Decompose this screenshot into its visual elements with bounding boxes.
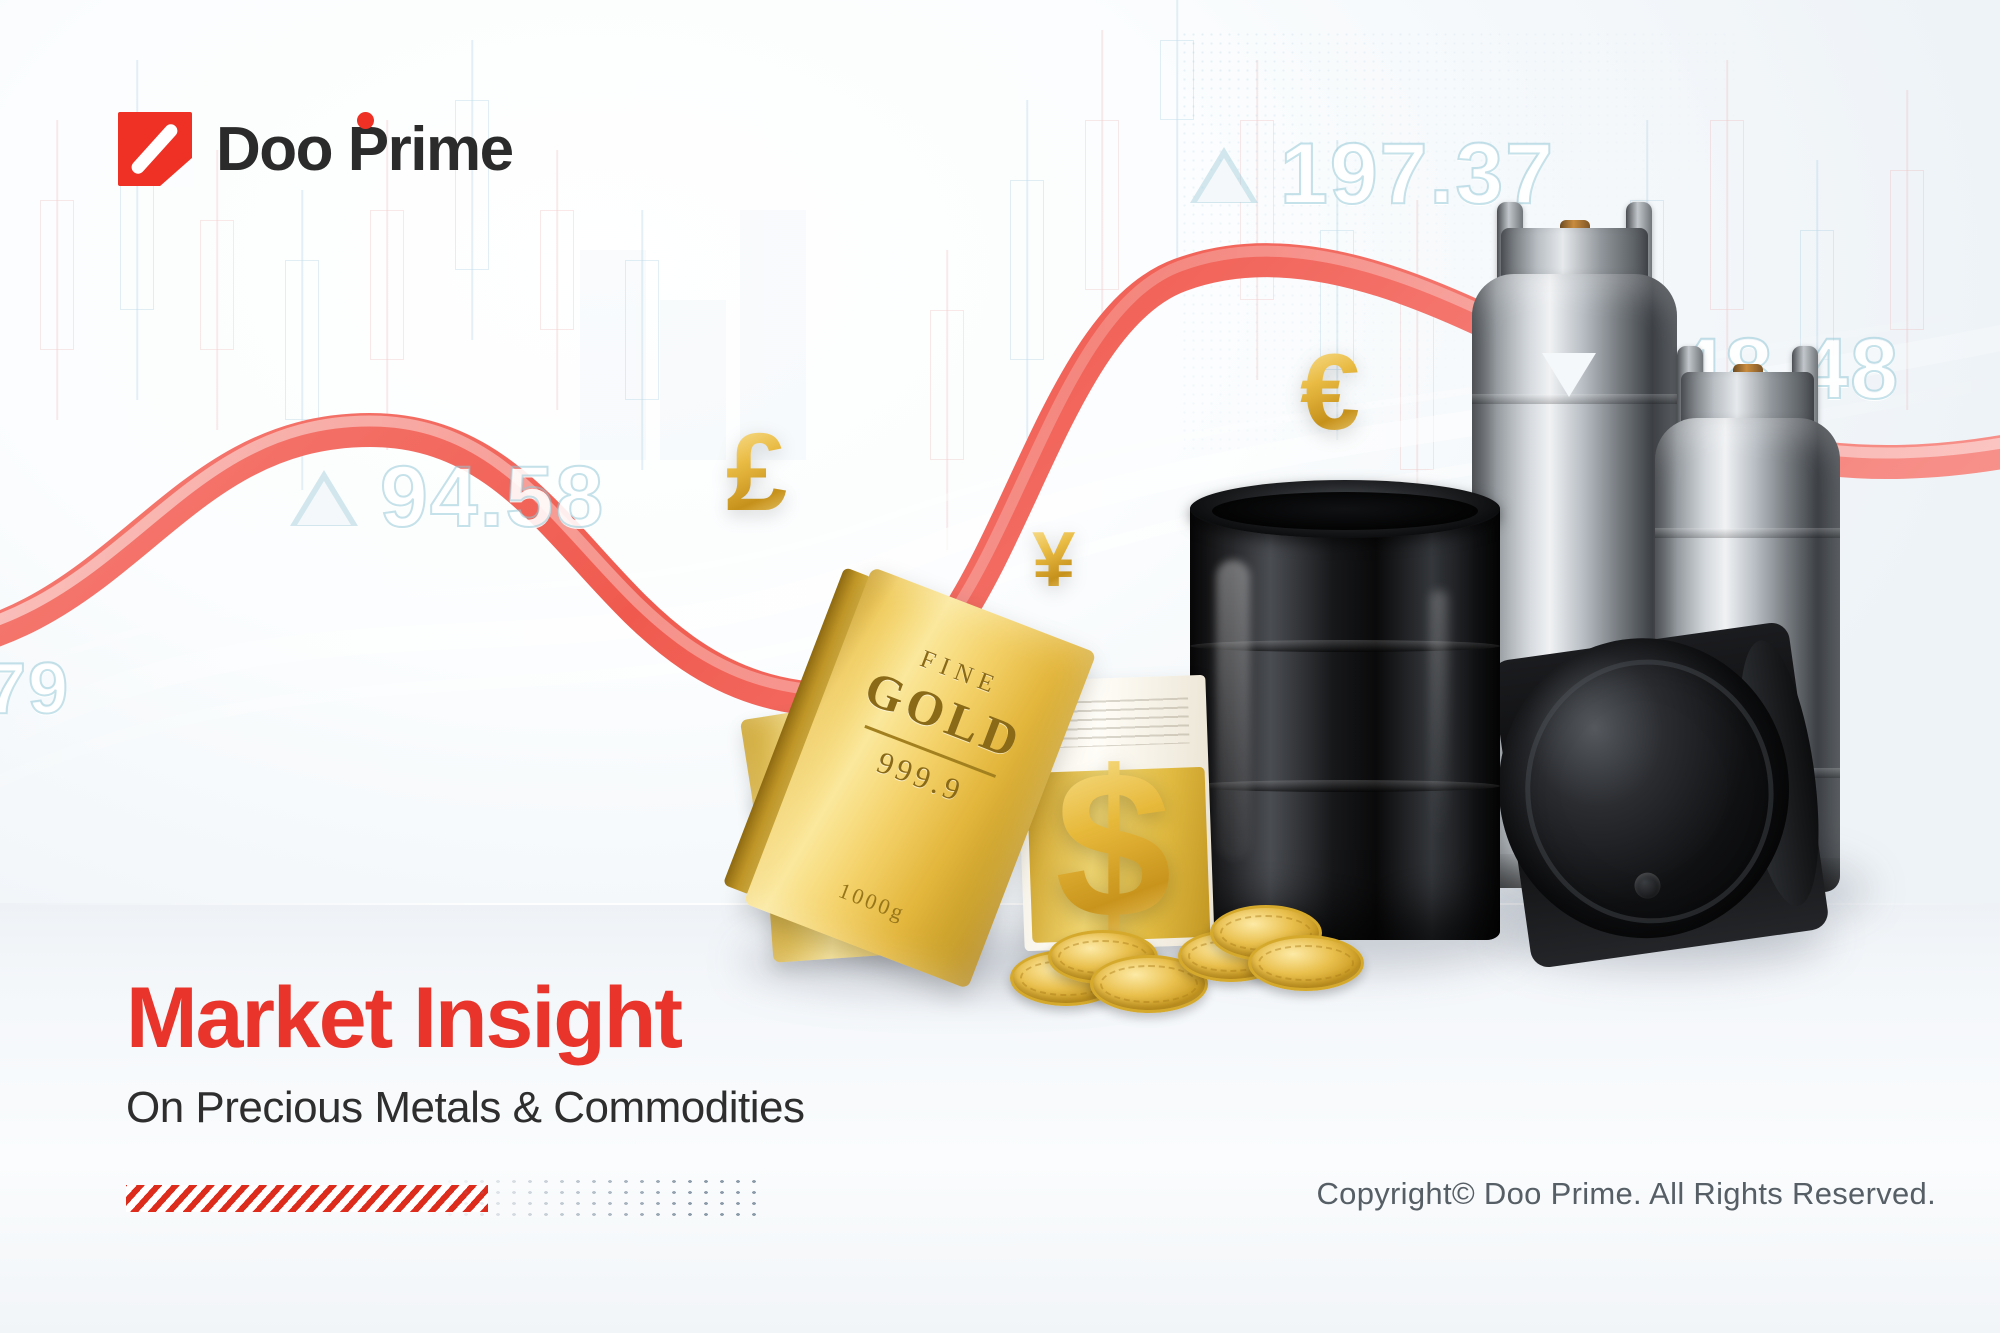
headline-block: Market Insight On Precious Metals & Comm… (126, 975, 804, 1133)
logo-accent-dot-icon (357, 112, 374, 129)
oil-drum-upright (1190, 500, 1500, 940)
drum-highlight-right (1430, 590, 1448, 840)
drum-opening (1212, 492, 1478, 530)
market-insight-banner: 197.37 148.48 94.58 .79 (0, 0, 2000, 1333)
copyright-text: Copyright© Doo Prime. All Rights Reserve… (1316, 1176, 1936, 1212)
dollar-symbol-3d: $ (1055, 740, 1172, 950)
oil-drum-tilted (1490, 621, 1830, 970)
gold-coin (1248, 935, 1364, 991)
dot-grid-pattern (426, 1176, 766, 1216)
euro-symbol-3d: € (1300, 338, 1360, 446)
decorative-accent-bar (126, 1176, 766, 1216)
doo-prime-logo[interactable]: Doo Prime (118, 112, 513, 186)
pound-symbol-3d: £ (726, 418, 787, 528)
drum-highlight-left (1216, 560, 1250, 860)
yen-symbol-3d: ¥ (1032, 520, 1075, 598)
logo-slash-stroke (129, 122, 180, 177)
logo-corner-notch (159, 157, 193, 187)
doo-prime-square-mark-icon (118, 112, 192, 186)
product-scene: FINE GOLD 999.9 1000g $ £ € ¥ (0, 0, 2000, 1333)
page-subtitle: On Precious Metals & Commodities (126, 1083, 804, 1133)
logo-wordmark: Doo Prime (216, 114, 513, 185)
page-title: Market Insight (126, 975, 804, 1063)
